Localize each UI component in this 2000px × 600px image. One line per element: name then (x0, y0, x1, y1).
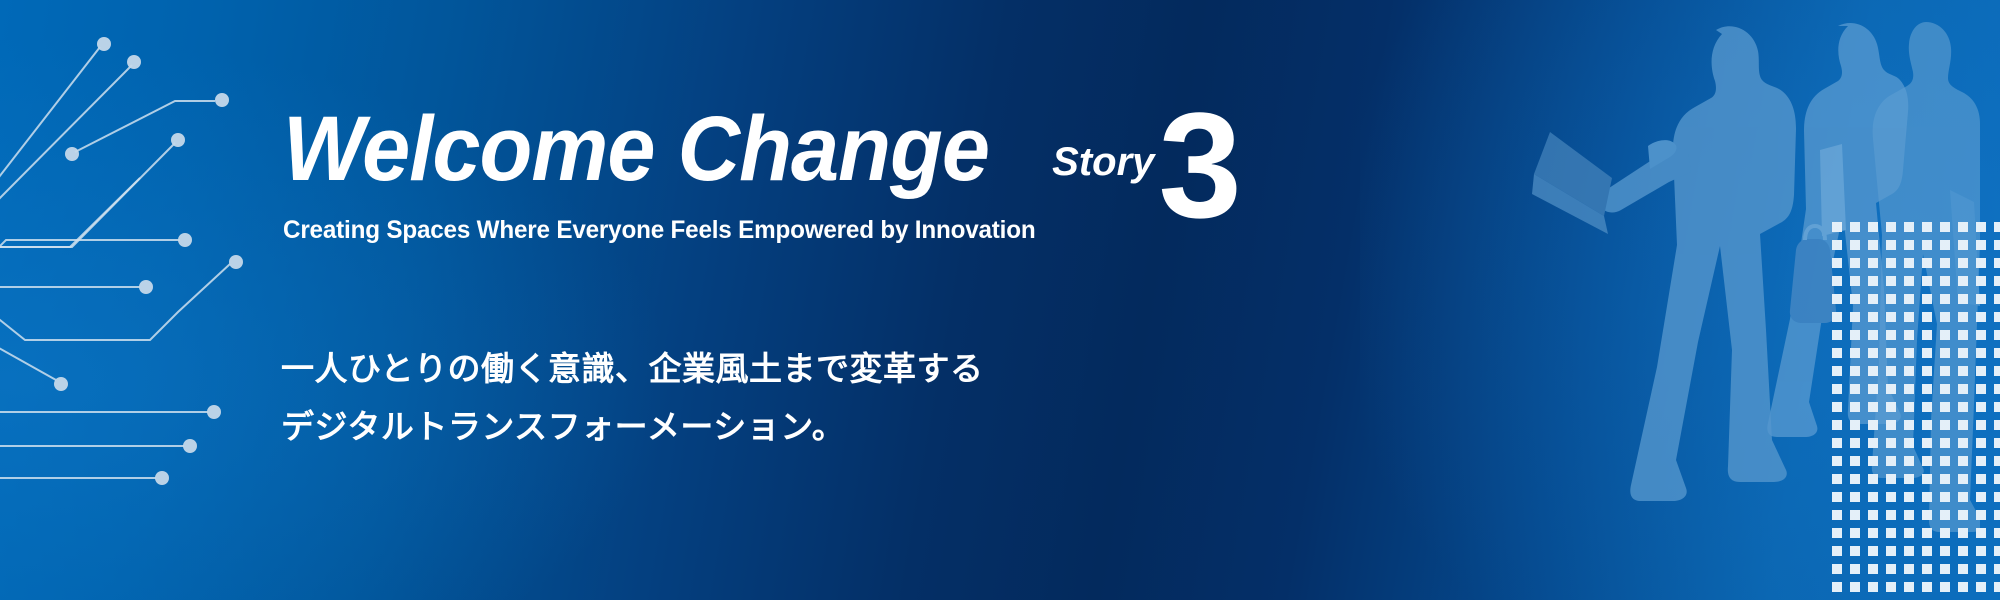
story-label: Story (1052, 140, 1154, 185)
hero-banner: Welcome Change Story 3 Creating Spaces W… (0, 0, 2000, 600)
story-number: 3 (1158, 104, 1238, 227)
headline-row: Welcome Change Story 3 (283, 104, 1239, 193)
banner-content: Welcome Change Story 3 Creating Spaces W… (0, 0, 2000, 600)
page-title: Welcome Change (283, 106, 989, 193)
tagline: Creating Spaces Where Everyone Feels Emp… (283, 216, 1035, 245)
subcopy-line-1: 一人ひとりの働く意識、企業風土まで変革する (281, 340, 984, 398)
subcopy-line-2: デジタルトランスフォーメーション。 (281, 398, 984, 456)
subcopy: 一人ひとりの働く意識、企業風土まで変革する デジタルトランスフォーメーション。 (281, 340, 984, 456)
